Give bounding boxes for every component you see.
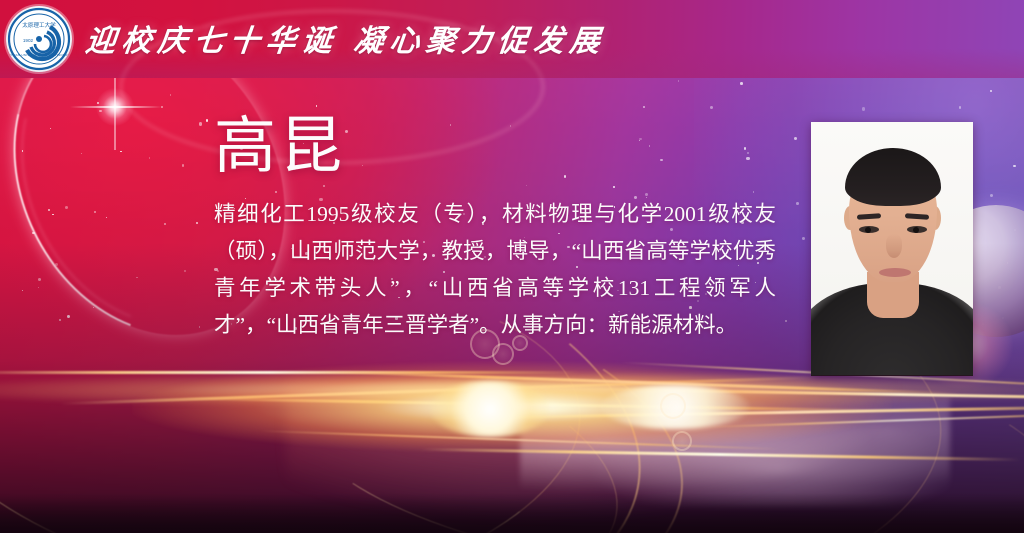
profile-bio: 精细化工1995级校友（专），材料物理与化学2001级校友（硕），山西师范大学，… [214, 196, 776, 344]
profile-name: 高昆 [214, 113, 346, 181]
portrait-eye-right [907, 226, 927, 233]
portrait-nose [886, 234, 902, 258]
profile-portrait [811, 122, 973, 375]
portrait-photo-canvas [811, 122, 973, 375]
portrait-hair [845, 148, 941, 206]
portrait-mouth [879, 268, 911, 277]
alumni-profile-poster: 太原理工大学 1902 TAIYUAN UNIVERSITY OF TECHNO… [0, 0, 1024, 533]
portrait-eye-left [859, 226, 879, 233]
